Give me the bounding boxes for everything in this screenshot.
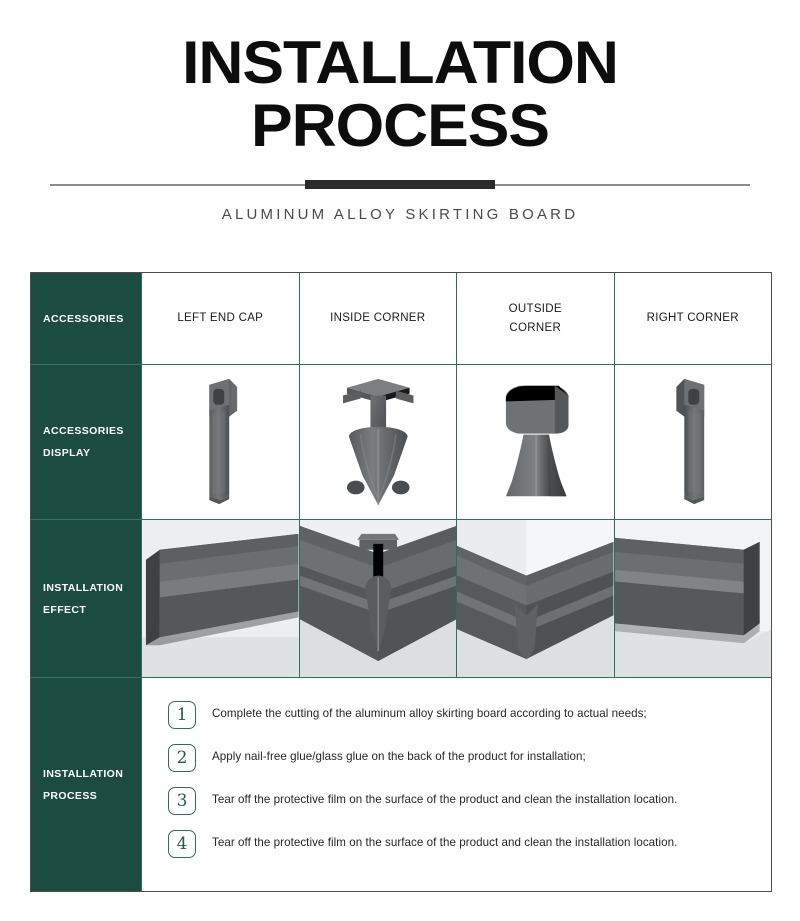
- row-label-display-line1: ACCESSORIES: [43, 420, 141, 442]
- step-number-badge-2: 2: [168, 744, 196, 772]
- page-header: INSTALLATION PROCESS ALUMINUM ALLOY SKIR…: [0, 0, 800, 223]
- effect-cell-inside-corner: [299, 520, 457, 678]
- installation-effect-row: INSTALLATION EFFECT: [31, 520, 771, 678]
- column-header-outside-corner-text: OUTSIDE: [509, 300, 562, 319]
- inside-corner-joint-photo: [300, 520, 457, 677]
- effect-cell-outside-corner: [456, 520, 614, 678]
- step-text-4: Tear off the protective film on the surf…: [212, 829, 677, 851]
- process-step-2: 2 Apply nail-free glue/glass glue on the…: [168, 743, 757, 772]
- column-header-right-corner: RIGHT CORNER: [614, 273, 772, 365]
- accessories-display-row: ACCESSORIES DISPLAY: [31, 365, 771, 520]
- column-header-inside-corner: INSIDE CORNER: [299, 273, 457, 365]
- outside-corner-icon: [457, 365, 614, 519]
- process-steps-list: 1 Complete the cutting of the aluminum a…: [141, 678, 771, 891]
- column-header-left-end-cap: LEFT END CAP: [141, 273, 299, 365]
- table-header-row: ACCESSORIES LEFT END CAP INSIDE CORNER O…: [31, 273, 771, 365]
- process-step-1: 1 Complete the cutting of the aluminum a…: [168, 700, 757, 729]
- column-header-left-end-cap-text: LEFT END CAP: [177, 309, 263, 328]
- step-number-badge-1: 1: [168, 701, 196, 729]
- page-title-line2: PROCESS: [0, 97, 800, 154]
- row-label-process-line1: INSTALLATION: [43, 763, 141, 785]
- page-title-line1: INSTALLATION: [0, 34, 800, 91]
- right-end-cap-photo: [615, 520, 772, 677]
- outside-corner-joint-photo: [457, 520, 614, 677]
- row-label-installation-effect: INSTALLATION EFFECT: [31, 520, 141, 678]
- row-label-effect-line1: INSTALLATION: [43, 577, 141, 599]
- step-number-badge-3: 3: [168, 787, 196, 815]
- row-label-accessories: ACCESSORIES: [31, 273, 141, 365]
- row-label-accessories-text: ACCESSORIES: [43, 308, 141, 330]
- step-text-2: Apply nail-free glue/glass glue on the b…: [212, 743, 586, 765]
- row-label-installation-process: INSTALLATION PROCESS: [31, 678, 141, 891]
- row-label-accessories-display: ACCESSORIES DISPLAY: [31, 365, 141, 520]
- column-header-right-corner-text: RIGHT CORNER: [647, 309, 739, 328]
- left-end-cap-icon: [142, 365, 299, 519]
- process-step-3: 3 Tear off the protective film on the su…: [168, 786, 757, 815]
- column-header-inside-corner-text: INSIDE CORNER: [330, 309, 425, 328]
- column-header-outside-corner-text2: CORNER: [509, 319, 562, 338]
- effect-cell-straight-run: [141, 520, 299, 678]
- divider-thick-segment: [305, 180, 495, 189]
- column-header-outside-corner: OUTSIDE CORNER: [456, 273, 614, 365]
- page-subtitle: ALUMINUM ALLOY SKIRTING BOARD: [0, 206, 800, 223]
- straight-run-skirting-photo: [142, 520, 299, 677]
- product-cell-inside-corner: [299, 365, 457, 520]
- installation-table: ACCESSORIES LEFT END CAP INSIDE CORNER O…: [30, 272, 772, 892]
- title-divider: [50, 180, 750, 189]
- right-corner-icon: [615, 365, 772, 519]
- step-number-badge-4: 4: [168, 830, 196, 858]
- product-cell-outside-corner: [456, 365, 614, 520]
- row-label-effect-line2: EFFECT: [43, 599, 141, 621]
- step-text-1: Complete the cutting of the aluminum all…: [212, 700, 647, 722]
- row-label-display-line2: DISPLAY: [43, 442, 141, 464]
- installation-process-row: INSTALLATION PROCESS 1 Complete the cutt…: [31, 678, 771, 891]
- product-cell-left-end-cap: [141, 365, 299, 520]
- effect-cell-right-end-cap: [614, 520, 772, 678]
- process-step-4: 4 Tear off the protective film on the su…: [168, 829, 757, 858]
- product-cell-right-corner: [614, 365, 772, 520]
- row-label-process-line2: PROCESS: [43, 785, 141, 807]
- step-text-3: Tear off the protective film on the surf…: [212, 786, 677, 808]
- inside-corner-icon: [300, 365, 457, 519]
